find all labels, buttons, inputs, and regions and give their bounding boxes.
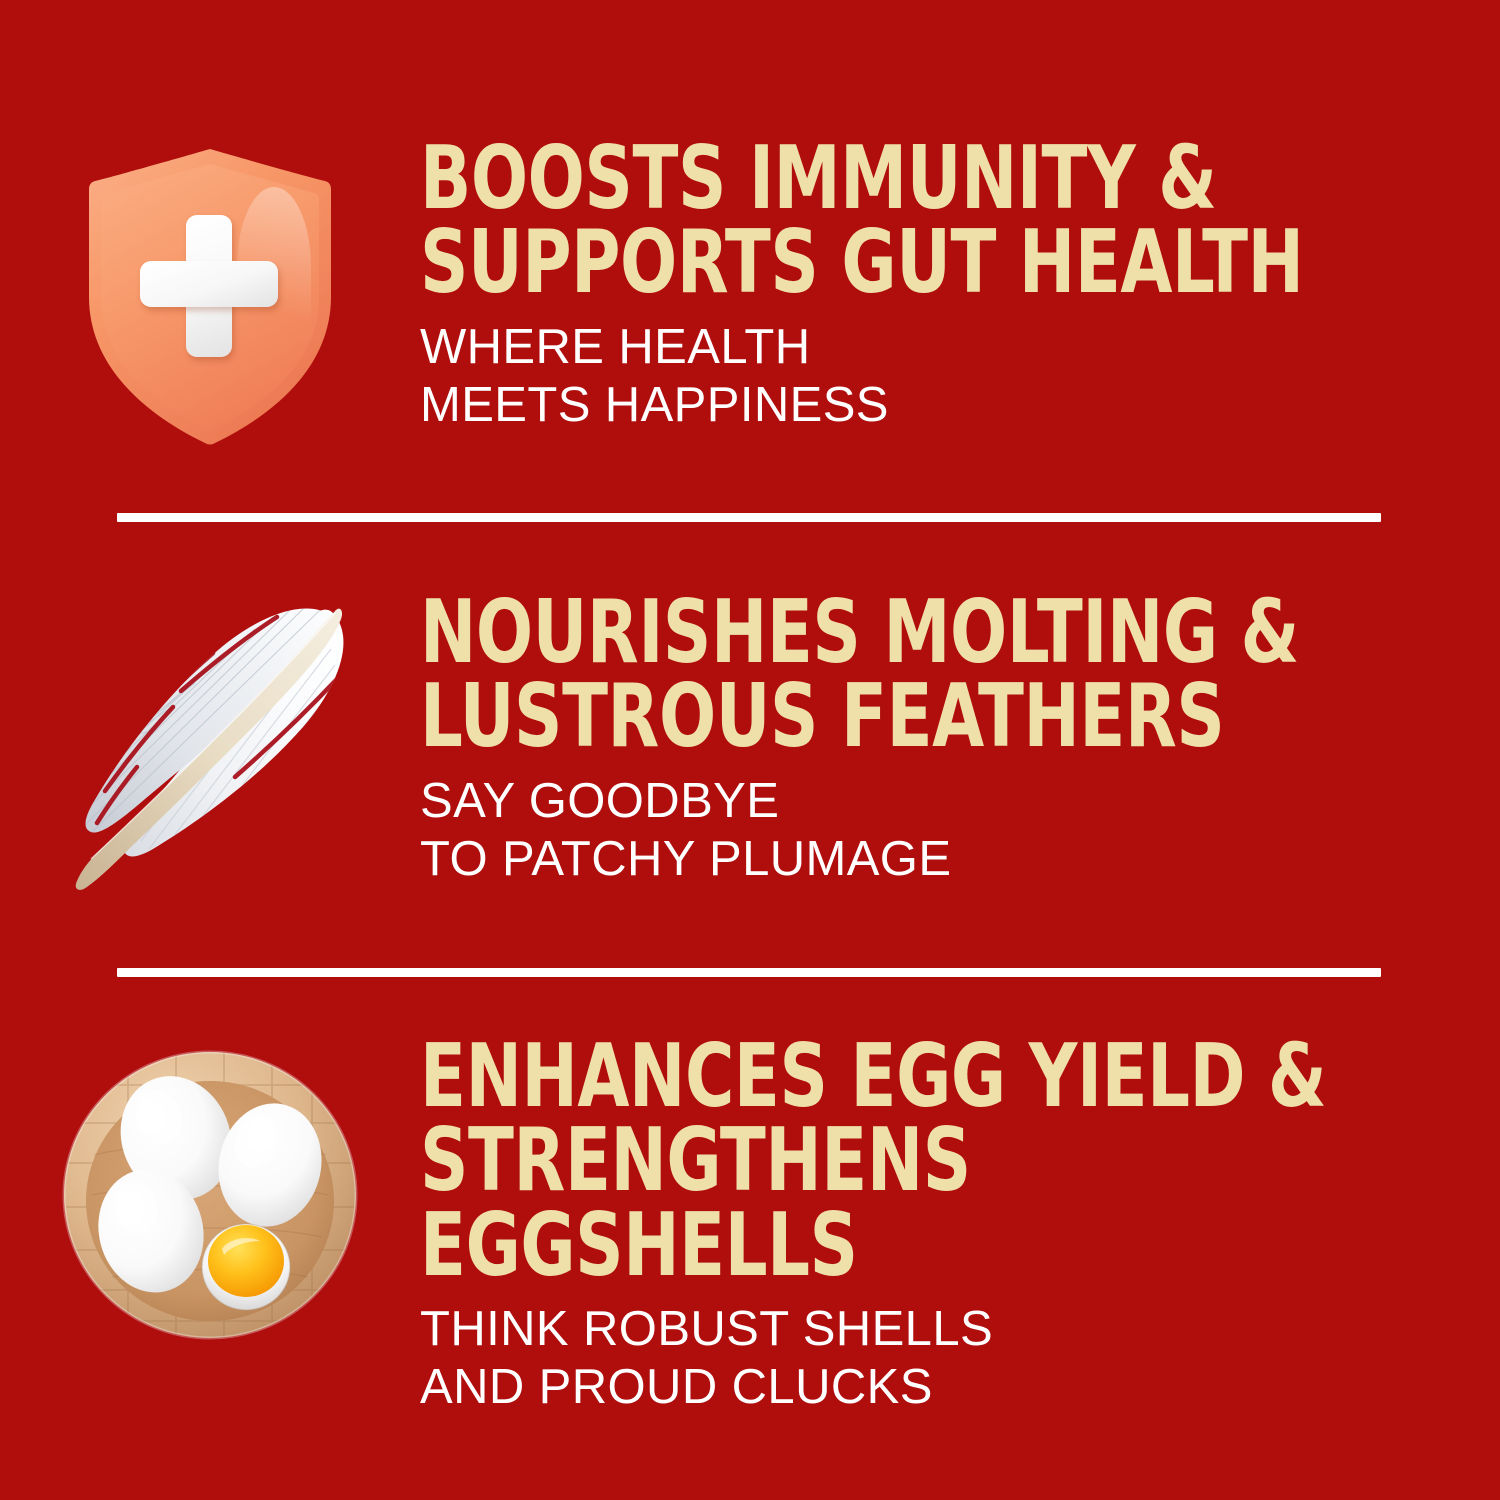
benefit-row-feathers: NOURISHES MOLTING & LUSTROUS FEATHERS SA…	[0, 586, 1500, 916]
shield-plus-icon	[87, 147, 333, 447]
feather-icon	[45, 591, 375, 911]
feather-shaft	[76, 609, 342, 890]
benefit-title-eggs: ENHANCES EGG YIELD & STRENGTHENS EGGSHEL…	[420, 1034, 1349, 1287]
divider-2	[117, 968, 1381, 977]
egg-bowl-icon	[58, 1045, 362, 1345]
benefits-poster: BOOSTS IMMUNITY & SUPPORTS GUT HEALTH WH…	[0, 0, 1500, 1500]
icon-cell-feathers	[0, 586, 420, 916]
benefit-subtitle-eggs: THINK ROBUST SHELLS AND PROUD CLUCKS	[420, 1301, 1500, 1417]
text-cell-eggs: ENHANCES EGG YIELD & STRENGTHENS EGGSHEL…	[420, 1030, 1500, 1417]
text-cell-immunity: BOOSTS IMMUNITY & SUPPORTS GUT HEALTH WH…	[420, 132, 1500, 434]
icon-cell-eggs	[0, 1030, 420, 1360]
benefit-row-eggs: ENHANCES EGG YIELD & STRENGTHENS EGGSHEL…	[0, 1030, 1500, 1417]
benefit-subtitle-feathers: SAY GOODBYE TO PATCHY PLUMAGE	[420, 773, 1500, 889]
text-cell-feathers: NOURISHES MOLTING & LUSTROUS FEATHERS SA…	[420, 586, 1500, 888]
icon-cell-immunity	[0, 132, 420, 462]
divider-1	[117, 513, 1381, 522]
benefit-title-feathers: NOURISHES MOLTING & LUSTROUS FEATHERS	[420, 590, 1349, 759]
cracked-egg-with-yolk	[202, 1224, 290, 1310]
benefit-subtitle-immunity: WHERE HEALTH MEETS HAPPINESS	[420, 319, 1500, 435]
plus-horizontal-bar	[140, 261, 278, 307]
benefit-row-immunity: BOOSTS IMMUNITY & SUPPORTS GUT HEALTH WH…	[0, 132, 1500, 462]
benefit-title-immunity: BOOSTS IMMUNITY & SUPPORTS GUT HEALTH	[420, 136, 1349, 305]
